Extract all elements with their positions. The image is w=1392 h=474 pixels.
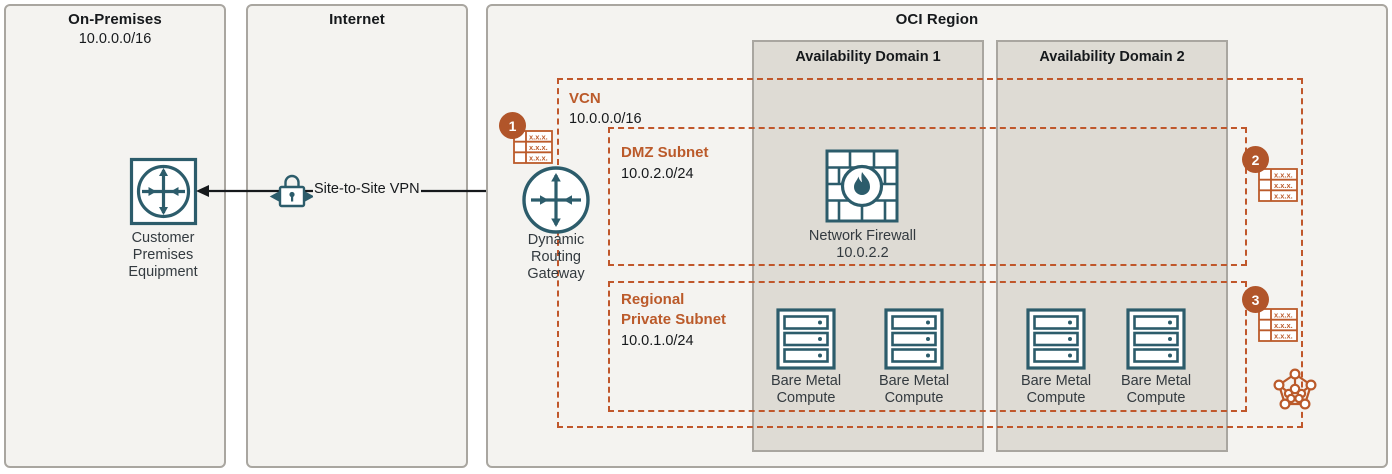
svg-text:x.x.x.: x.x.x. — [529, 143, 548, 152]
badge-1[interactable]: 1 — [499, 112, 526, 139]
bare-metal-compute-1-label-line2: Compute — [746, 390, 866, 407]
cpe-label-line3: Equipment — [93, 264, 233, 281]
route-table-2[interactable]: x.x.x. x.x.x. x.x.x. — [1258, 168, 1291, 197]
bare-metal-compute-2-label-line1: Bare Metal — [854, 373, 974, 390]
badge-3[interactable]: 3 — [1242, 286, 1269, 313]
panel-on-premises-cidr: 10.0.0.0/16 — [4, 31, 226, 47]
drg-label-line3: Gateway — [486, 266, 626, 283]
svg-text:x.x.x.: x.x.x. — [1274, 321, 1293, 330]
regional-private-subnet-label-line1: Regional — [621, 291, 684, 309]
vpn-label: Site-to-Site VPN — [313, 181, 421, 197]
customer-premises-equipment-icon[interactable] — [129, 157, 198, 226]
cpe-label: Customer Premises Equipment — [93, 230, 233, 281]
drg-label-line2: Routing — [486, 249, 626, 266]
panel-internet — [246, 4, 468, 468]
bare-metal-compute-1-label: Bare Metal Compute — [746, 373, 866, 407]
bare-metal-compute-icon[interactable] — [884, 308, 944, 370]
regional-private-subnet-cidr: 10.0.1.0/24 — [621, 332, 694, 350]
bare-metal-compute-4-label-line2: Compute — [1096, 390, 1216, 407]
service-gateway-mesh-icon[interactable] — [1272, 368, 1318, 414]
svg-text:x.x.x.: x.x.x. — [1274, 192, 1293, 201]
network-firewall-label: Network Firewall 10.0.2.2 — [790, 228, 935, 262]
panel-oci-region-title: OCI Region — [486, 11, 1388, 28]
dynamic-routing-gateway-icon[interactable] — [521, 165, 591, 235]
cpe-label-line2: Premises — [93, 247, 233, 264]
bare-metal-compute-icon[interactable] — [776, 308, 836, 370]
drg-label-line1: Dynamic — [486, 232, 626, 249]
panel-on-premises-title: On-Premises — [4, 11, 226, 28]
route-table-3[interactable]: x.x.x. x.x.x. x.x.x. — [1258, 308, 1291, 337]
dmz-subnet-label: DMZ Subnet — [621, 144, 709, 162]
network-firewall-icon[interactable] — [825, 149, 899, 223]
regional-private-subnet-label-line2: Private Subnet — [621, 311, 726, 329]
vcn-label: VCN — [569, 90, 601, 108]
svg-text:x.x.x.: x.x.x. — [1274, 181, 1293, 190]
bare-metal-compute-4-label-line1: Bare Metal — [1096, 373, 1216, 390]
panel-internet-title: Internet — [246, 11, 468, 28]
availability-domain-1-title: Availability Domain 1 — [752, 49, 984, 65]
dmz-subnet-cidr: 10.0.2.0/24 — [621, 165, 694, 183]
svg-text:x.x.x.: x.x.x. — [1274, 310, 1293, 319]
svg-text:x.x.x.: x.x.x. — [529, 154, 548, 163]
bare-metal-compute-2-label-line2: Compute — [854, 390, 974, 407]
network-firewall-label-line1: Network Firewall — [790, 228, 935, 245]
svg-text:x.x.x.: x.x.x. — [529, 132, 548, 141]
drg-label: Dynamic Routing Gateway — [486, 232, 626, 283]
svg-text:x.x.x.: x.x.x. — [1274, 332, 1293, 341]
bare-metal-compute-2-label: Bare Metal Compute — [854, 373, 974, 407]
badge-2[interactable]: 2 — [1242, 146, 1269, 173]
cpe-label-line1: Customer — [93, 230, 233, 247]
svg-text:x.x.x.: x.x.x. — [1274, 170, 1293, 179]
network-firewall-label-line2: 10.0.2.2 — [790, 245, 935, 262]
architecture-diagram: On-Premises 10.0.0.0/16 Customer Premise… — [0, 0, 1392, 474]
bare-metal-compute-4-label: Bare Metal Compute — [1096, 373, 1216, 407]
bare-metal-compute-icon[interactable] — [1126, 308, 1186, 370]
lock-vpn-icon[interactable] — [272, 171, 312, 211]
bare-metal-compute-1-label-line1: Bare Metal — [746, 373, 866, 390]
availability-domain-2-title: Availability Domain 2 — [996, 49, 1228, 65]
bare-metal-compute-icon[interactable] — [1026, 308, 1086, 370]
vcn-cidr: 10.0.0.0/16 — [569, 110, 642, 128]
